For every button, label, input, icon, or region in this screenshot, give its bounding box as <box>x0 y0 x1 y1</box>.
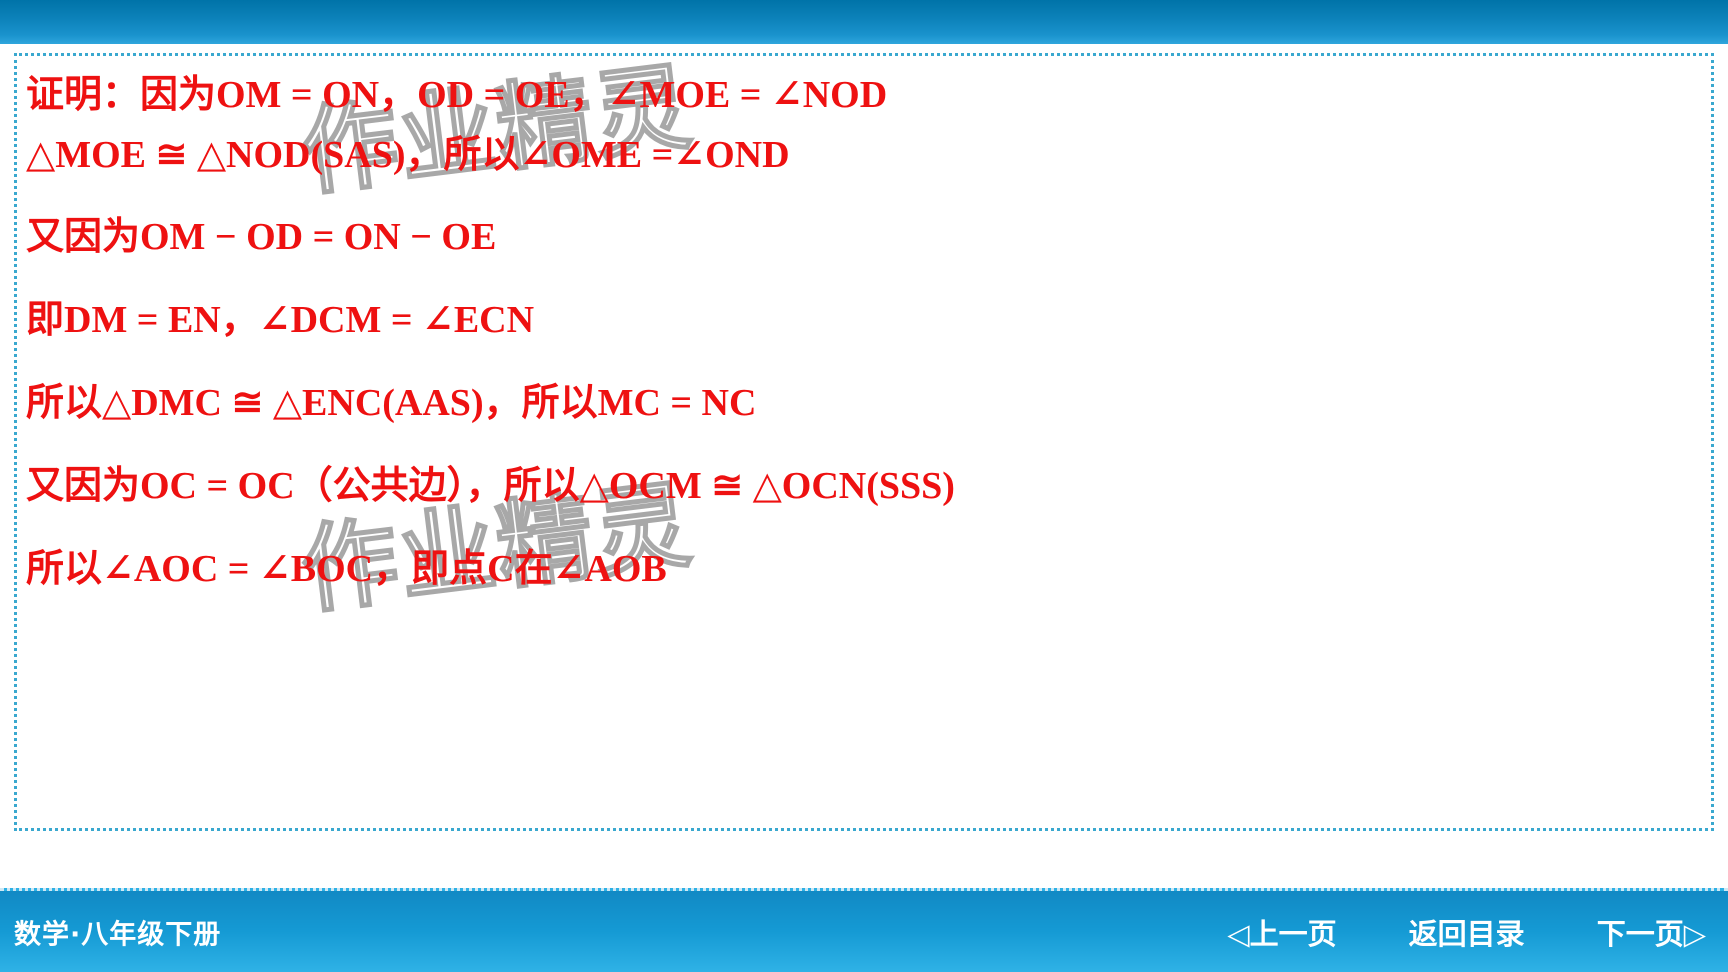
proof-line-2: △MOE ≅ △NOD(SAS)，所以∠OME =∠OND <box>26 136 790 174</box>
footer-bar: 数学·八年级下册 ◁上一页 返回目录 下一页▷ <box>0 888 1728 972</box>
prev-page-button[interactable]: ◁上一页 <box>1227 911 1336 953</box>
proof-line-7: 所以∠AOC = ∠BOC，即点C在∠AOB <box>26 550 667 588</box>
slide-root: 作业精灵 作业精灵 证明：因为OM = ON，OD = OE，∠MOE = ∠N… <box>0 0 1728 972</box>
proof-line-5: 所以△DMC ≅ △ENC(AAS)，所以MC = NC <box>26 384 756 422</box>
page-navigation: ◁上一页 返回目录 下一页▷ <box>1227 911 1706 953</box>
proof-line-6: 又因为OC = OC（公共边），所以△OCM ≅ △OCN(SSS) <box>26 467 955 505</box>
back-to-contents-button[interactable]: 返回目录 <box>1409 911 1525 953</box>
top-decorative-bar <box>0 0 1728 44</box>
book-title: 数学·八年级下册 <box>14 912 221 951</box>
proof-line-1: 证明：因为OM = ON，OD = OE，∠MOE = ∠NOD <box>26 76 887 114</box>
proof-line-4: 即DM = EN，∠DCM = ∠ECN <box>26 301 534 339</box>
proof-line-3: 又因为OM − OD = ON − OE <box>26 218 496 256</box>
next-page-button[interactable]: 下一页▷ <box>1597 911 1706 953</box>
